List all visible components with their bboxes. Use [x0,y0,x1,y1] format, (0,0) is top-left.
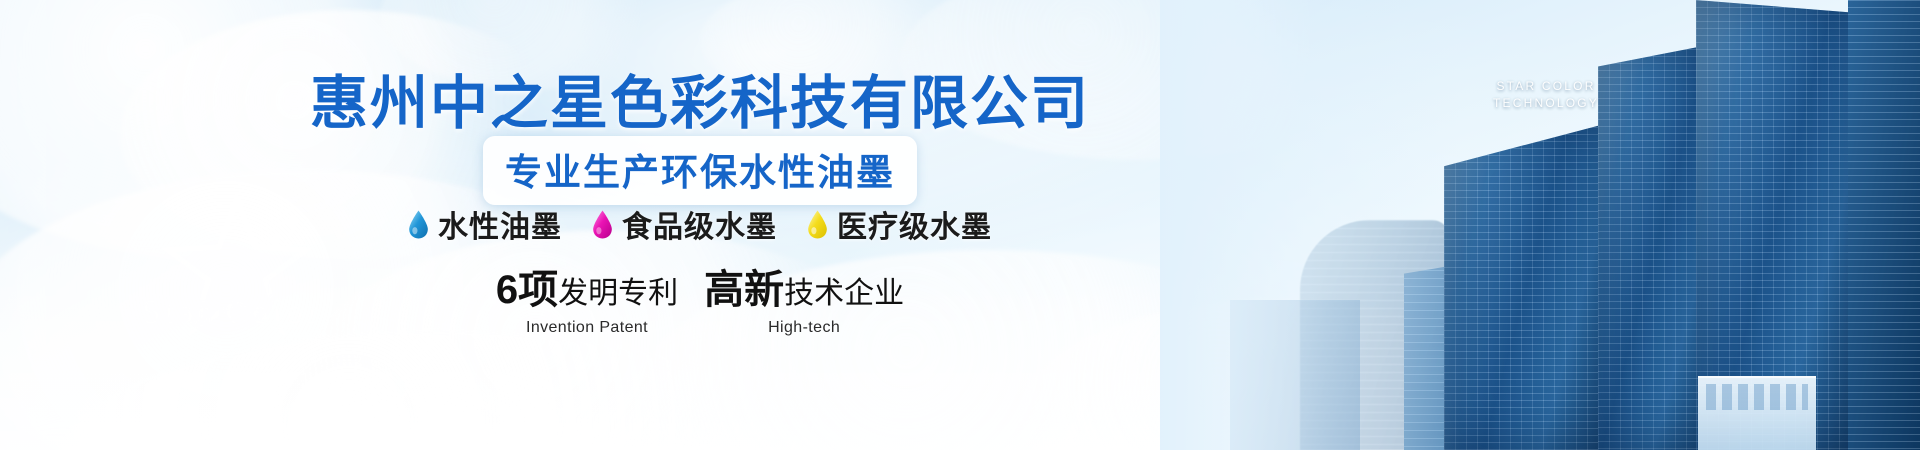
product-tag-label: 医疗级水墨 [837,202,992,246]
product-tag-list: 水性油墨 食品级水墨 [0,202,1400,246]
product-tag: 医疗级水墨 [807,202,992,246]
building-edge-sliver [1848,0,1920,450]
subtitle-pill-wrapper: 专业生产环保水性油墨 [0,136,1400,205]
credential-badge-hightech: 高新技术企业 High-tech [704,268,904,337]
badge-chinese-text: 高新技术企业 [704,268,904,316]
badge-detail: 技术企业 [784,277,904,310]
water-drop-icon [807,210,828,239]
product-tag-label: 水性油墨 [438,202,562,246]
building-white-podium [1698,376,1816,450]
water-drop-icon [592,210,613,239]
product-tag: 食品级水墨 [592,202,777,246]
product-tag: 水性油墨 [408,202,562,246]
building-glass-tower [1444,120,1620,450]
water-drop-icon [408,210,429,239]
badge-english-text: Invention Patent [496,319,678,337]
badge-chinese-text: 6项发明专利 [496,268,678,316]
badge-highlight: 6项 [496,268,558,312]
company-headline: 惠州中之星色彩科技有限公司 [0,56,1400,140]
banner-content: 惠州中之星色彩科技有限公司 专业生产环保水性油墨 水性油 [0,0,1400,450]
credential-badge-patent: 6项发明专利 Invention Patent [496,268,678,337]
badge-detail: 发明专利 [558,277,678,310]
subtitle-pill: 专业生产环保水性油墨 [483,136,917,205]
product-tag-label: 食品级水墨 [622,202,777,246]
promotional-banner: Star Color STAR COLOR TECHNOLOGY 惠州中之星色彩… [0,0,1920,450]
badge-english-text: High-tech [704,319,904,337]
credential-badge-list: 6项发明专利 Invention Patent 高新技术企业 High-tech [0,268,1400,337]
badge-highlight: 高新 [704,268,784,312]
